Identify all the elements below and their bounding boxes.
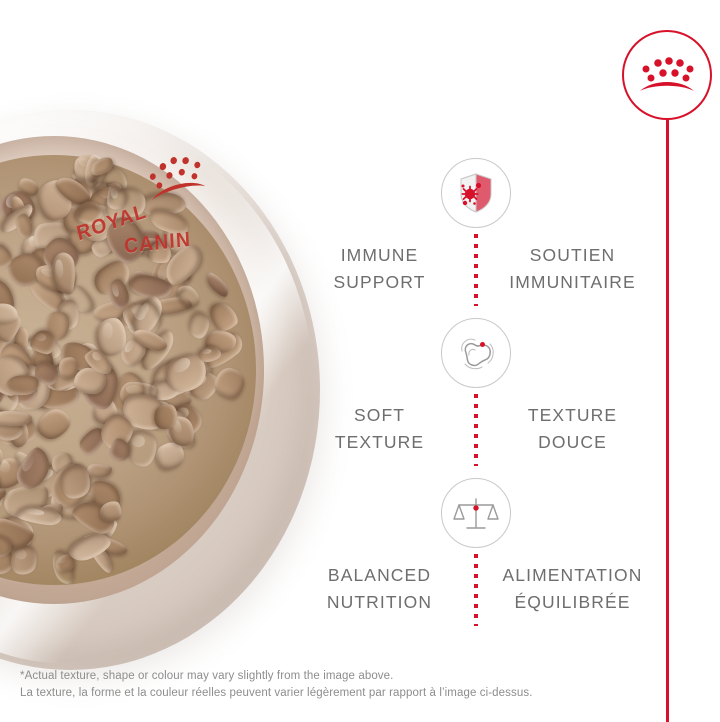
feature-labels: IMMUNE SUPPORT SOUTIEN IMMUNITAIRE <box>300 242 652 296</box>
royal-canin-brand-mark <box>622 30 718 126</box>
brand-mark-circle <box>622 30 712 120</box>
feature-label-en-line1: BALANCED <box>300 562 459 589</box>
soft-texture-blob-icon <box>453 331 499 375</box>
icon-circle <box>441 158 511 228</box>
feature-label-en-line1: IMMUNE <box>300 242 459 269</box>
feature-icon-wrap <box>441 478 511 548</box>
feature-labels: SOFT TEXTURE TEXTURE DOUCE <box>300 402 652 456</box>
feature-label-en-line1: SOFT <box>300 402 459 429</box>
feature-labels: BALANCED NUTRITION ALIMENTATION ÉQUILIBR… <box>300 562 652 616</box>
feature-label-en: SOFT TEXTURE <box>300 402 476 456</box>
icon-circle <box>441 478 511 548</box>
disclaimer-text: *Actual texture, shape or colour may var… <box>20 668 533 702</box>
feature-label-en-line2: TEXTURE <box>300 429 459 456</box>
feature-label-fr-line1: TEXTURE <box>493 402 652 429</box>
shield-virus-icon <box>456 172 496 214</box>
feature-balanced-nutrition: BALANCED NUTRITION ALIMENTATION ÉQUILIBR… <box>300 470 652 630</box>
balance-scale-icon <box>453 492 499 534</box>
feature-label-en-line2: NUTRITION <box>300 589 459 616</box>
icon-circle <box>441 318 511 388</box>
feature-label-fr: ALIMENTATION ÉQUILIBRÉE <box>476 562 652 616</box>
feature-immune-support: IMMUNE SUPPORT SOUTIEN IMMUNITAIRE <box>300 150 652 310</box>
feature-label-en: BALANCED NUTRITION <box>300 562 476 616</box>
feature-icon-wrap <box>441 318 511 388</box>
feature-label-fr-line2: ÉQUILIBRÉE <box>493 589 652 616</box>
feature-label-en: IMMUNE SUPPORT <box>300 242 476 296</box>
food-chunk <box>127 430 156 466</box>
feature-label-fr-line2: DOUCE <box>493 429 652 456</box>
feature-icon-wrap <box>441 158 511 228</box>
feature-label-fr-line2: IMMUNITAIRE <box>493 269 652 296</box>
feature-soft-texture: SOFT TEXTURE TEXTURE DOUCE <box>300 310 652 470</box>
product-photo: ROYAL CANIN <box>0 110 320 680</box>
feature-label-fr: SOUTIEN IMMUNITAIRE <box>476 242 652 296</box>
feature-label-en-line2: SUPPORT <box>300 269 459 296</box>
disclaimer-line-en: *Actual texture, shape or colour may var… <box>20 668 533 685</box>
feature-list: IMMUNE SUPPORT SOUTIEN IMMUNITAIRE <box>300 150 652 630</box>
disclaimer-line-fr: La texture, la forme et la couleur réell… <box>20 685 533 702</box>
feature-label-fr-line1: SOUTIEN <box>493 242 652 269</box>
feature-label-fr-line1: ALIMENTATION <box>493 562 652 589</box>
brand-mark-stem-line <box>666 120 669 722</box>
feature-label-fr: TEXTURE DOUCE <box>476 402 652 456</box>
royal-canin-crown-icon <box>637 56 697 94</box>
